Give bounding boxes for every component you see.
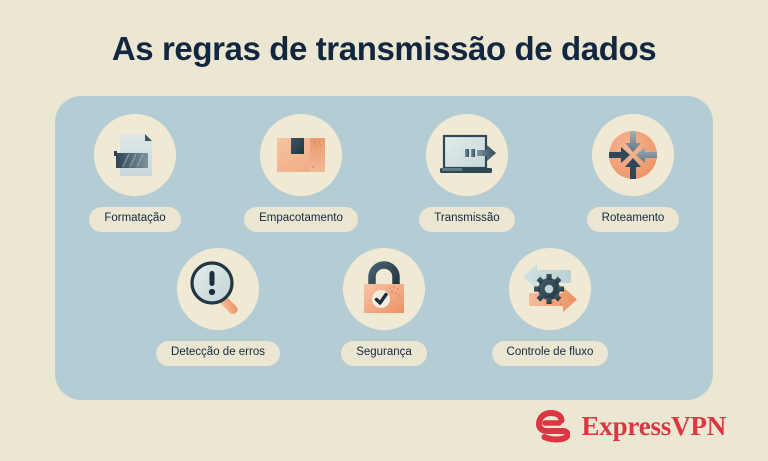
- concept-label: Empacotamento: [244, 207, 358, 232]
- concept-label: Controle de fluxo: [492, 341, 609, 366]
- expressvpn-brand[interactable]: ExpressVPN: [536, 409, 726, 443]
- content-panel: Formatação: [55, 96, 713, 400]
- expressvpn-wordmark: ExpressVPN: [581, 411, 726, 442]
- icon-circle: [426, 114, 508, 196]
- concept-item-controle-de-fluxo[interactable]: Controle de fluxo: [479, 248, 621, 366]
- package-box-icon: [272, 126, 330, 184]
- icon-circle: [509, 248, 591, 330]
- concept-label: Formatação: [89, 207, 180, 232]
- icon-circle: [94, 114, 176, 196]
- concept-label: Detecção de erros: [156, 341, 280, 366]
- concept-label: Transmissão: [419, 207, 514, 232]
- concept-item-formatacao[interactable]: Formatação: [64, 114, 206, 232]
- expressvpn-logo-mark: [536, 409, 570, 443]
- concept-label: Roteamento: [587, 207, 680, 232]
- four-way-arrows-icon: [604, 126, 662, 184]
- concept-item-transmissao[interactable]: Transmissão: [396, 114, 538, 232]
- laptop-transmit-icon: [437, 127, 497, 183]
- document-format-icon: [107, 127, 163, 183]
- concept-item-deteccao-de-erros[interactable]: Detecção de erros: [147, 248, 289, 366]
- icon-circle: [343, 248, 425, 330]
- icon-circle: [592, 114, 674, 196]
- concept-item-seguranca[interactable]: Segurança: [313, 248, 455, 366]
- icon-circle: [177, 248, 259, 330]
- page-title: As regras de transmissão de dados: [0, 30, 768, 68]
- magnifier-alert-icon: [187, 258, 249, 320]
- padlock-check-icon: [356, 260, 412, 318]
- icon-circle: [260, 114, 342, 196]
- concept-label: Segurança: [341, 341, 427, 366]
- infographic-root: As regras de transmissão de dados: [0, 0, 768, 461]
- concept-item-empacotamento[interactable]: Empacotamento: [230, 114, 372, 232]
- flow-arrows-gear-icon: [519, 261, 581, 317]
- icon-row-bottom: Detecção de erros: [55, 248, 713, 366]
- icon-row-top: Formatação: [55, 114, 713, 232]
- concept-item-roteamento[interactable]: Roteamento: [562, 114, 704, 232]
